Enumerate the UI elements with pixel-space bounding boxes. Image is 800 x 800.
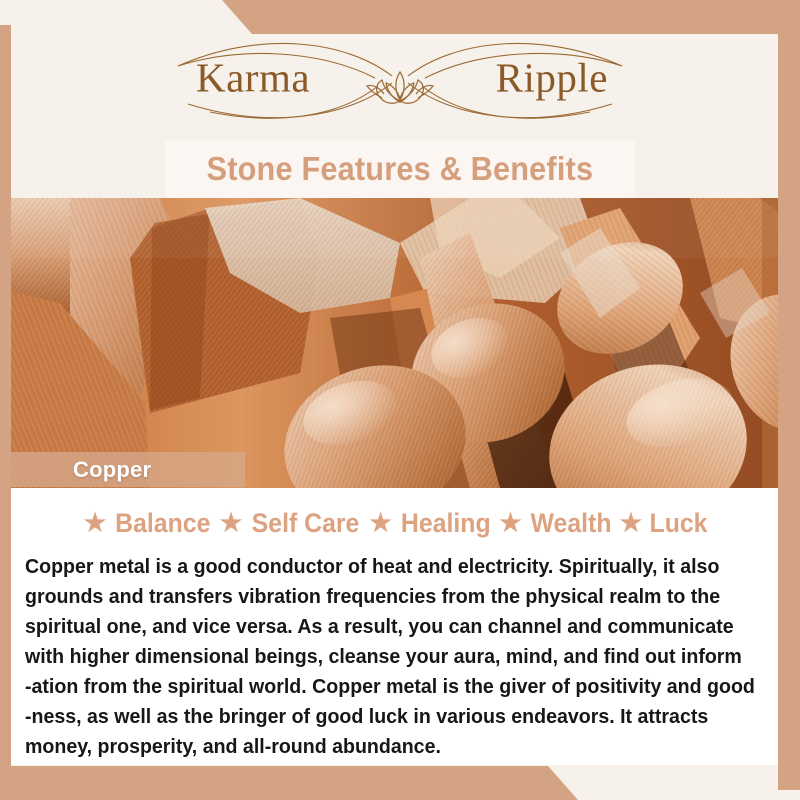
description-text: Copper metal is a good conductor of heat…	[25, 552, 764, 762]
benefit-item-balance: Balance	[115, 508, 210, 539]
description-line: spiritual one, and vice versa. As a resu…	[25, 612, 731, 642]
benefit-item-luck: Luck	[650, 508, 708, 539]
description-line: Copper metal is a good conductor of heat…	[25, 552, 731, 582]
star-icon: ★	[494, 511, 526, 536]
description-line: with higher dimensional beings, cleanse …	[25, 642, 731, 672]
content-card: ★ Balance ★ Self Care ★ Healing ★ Wealth…	[11, 488, 778, 765]
star-icon: ★	[79, 511, 111, 536]
star-icon: ★	[615, 511, 647, 536]
page-title: Stone Features & Benefits	[207, 150, 594, 188]
description-line: grounds and transfers vibration frequenc…	[25, 582, 731, 612]
brand-name-right: Ripple	[496, 58, 608, 99]
brand-logo: Karma Ripple	[0, 24, 800, 132]
frame-accent-bottom-left	[0, 766, 800, 800]
copper-bars-photo	[0, 198, 800, 488]
star-icon: ★	[215, 511, 247, 536]
description-line: money, prosperity, and all-round abundan…	[25, 732, 731, 762]
photo-caption-label: Copper	[73, 457, 151, 483]
lotus-icon	[367, 72, 433, 103]
frame-accent-left	[0, 25, 11, 800]
section-banner: Stone Features & Benefits	[165, 140, 635, 198]
benefits-list: ★ Balance ★ Self Care ★ Healing ★ Wealth…	[11, 500, 778, 546]
description-line: -ness, as well as the bringer of good lu…	[25, 702, 731, 732]
benefit-item-self-care: Self Care	[252, 508, 360, 539]
poster: Karma Ripple	[0, 0, 800, 800]
description-line: -ation from the spiritual world. Copper …	[25, 672, 731, 702]
photo-artwork	[0, 198, 800, 488]
benefit-item-healing: Healing	[401, 508, 491, 539]
brand-name-left: Karma	[196, 58, 310, 99]
star-icon: ★	[364, 511, 396, 536]
benefit-item-wealth: Wealth	[530, 508, 611, 539]
photo-caption-band: Copper	[11, 452, 245, 487]
